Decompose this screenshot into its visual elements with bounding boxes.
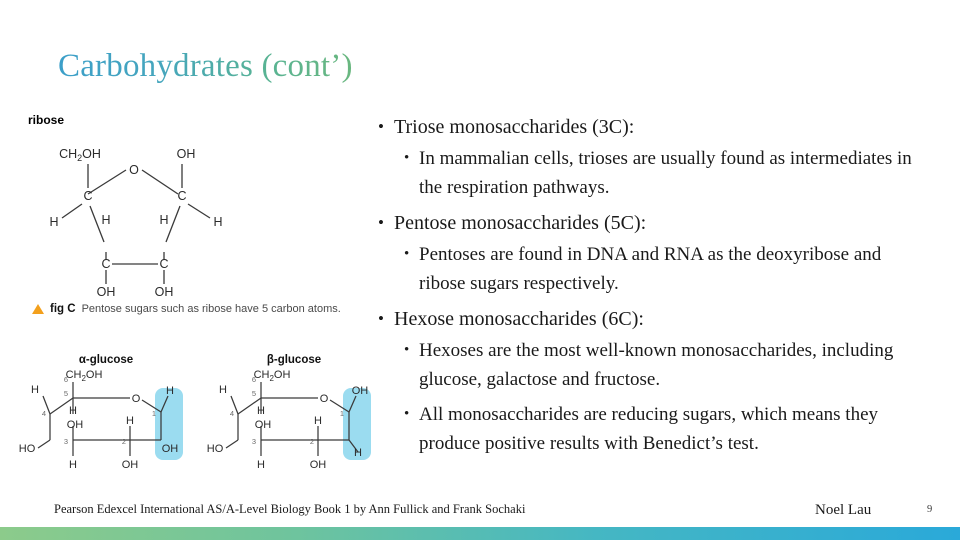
- alpha-label-h-inner: H: [126, 415, 134, 427]
- figure-caption-text: Pentose sugars such as ribose have 5 car…: [82, 303, 341, 315]
- bullet-group-triose: • Triose monosaccharides (3C): • In mamm…: [378, 112, 926, 202]
- alpha-label-oh-c4: OH: [67, 419, 84, 431]
- alpha-label-oh-c2: OH: [122, 459, 139, 471]
- bullet-level1-triose: • Triose monosaccharides (3C):: [378, 112, 926, 142]
- figure-caption-tag: fig C: [50, 303, 76, 315]
- bullet-level2-pentose-1: • Pentoses are found in DNA and RNA as t…: [404, 240, 926, 298]
- bullet-dot-icon: •: [404, 400, 419, 458]
- ribose-label-c-bottomleft: C: [101, 257, 110, 271]
- footer-presenter-name: Noel Lau: [815, 502, 871, 519]
- alpha-num-4: 4: [42, 409, 46, 418]
- alpha-label-h-c5: H: [69, 405, 77, 417]
- alpha-label-h-topleft: H: [31, 384, 39, 396]
- ribose-atom-labels: CH2OH O OH C C H H H H C C OH OH: [49, 147, 222, 299]
- triangle-marker-icon: [32, 304, 44, 314]
- alpha-num-1: 1: [152, 409, 156, 418]
- beta-num-6: 6: [252, 375, 256, 384]
- slide-number: 9: [927, 504, 932, 515]
- bullet-group-pentose: • Pentose monosaccharides (5C): • Pentos…: [378, 208, 926, 298]
- bullet-dot-icon: •: [404, 240, 419, 298]
- bullet-level1-pentose: • Pentose monosaccharides (5C):: [378, 208, 926, 238]
- bullet-level2-hexose-2: • All monosaccharides are reducing sugar…: [404, 400, 926, 458]
- beta-num-5: 5: [252, 389, 256, 398]
- ribose-label-c-bottomright: C: [159, 257, 168, 271]
- figure-alpha-glucose: α-glucose: [19, 354, 183, 471]
- beta-label-highlight-top: OH: [352, 385, 369, 397]
- footer-source-citation: Pearson Edexcel International AS/A-Level…: [54, 502, 525, 517]
- beta-num-2: 2: [310, 437, 314, 446]
- ribose-label-h-innerright: H: [159, 213, 168, 227]
- alpha-label-highlight-top: H: [166, 385, 174, 397]
- ribose-label-h-farright: H: [213, 215, 222, 229]
- bullet-dot-icon: •: [378, 304, 394, 334]
- ribose-label-oh-bottomleft: OH: [97, 285, 116, 299]
- beta-label-o: O: [320, 393, 329, 405]
- beta-num-3: 3: [252, 437, 256, 446]
- figure-caption-figc: fig C Pentose sugars such as ribose have…: [32, 303, 341, 315]
- ribose-label-h-farleft: H: [49, 215, 58, 229]
- ribose-bond-lines: [62, 164, 210, 284]
- beta-carbon-numbers: 6 5 4 3 2 1: [230, 375, 344, 446]
- figure-beta-glucose: β-glucose: [207, 354, 371, 471]
- bullet-text: Hexose monosaccharides (6C):: [394, 304, 644, 334]
- alpha-atom-labels: CH2OH O H HO H OH H OH H H OH: [19, 369, 179, 471]
- bullet-text: Triose monosaccharides (3C):: [394, 112, 634, 142]
- ribose-label-oh-topright: OH: [177, 147, 196, 161]
- alpha-carbon-numbers: 6 5 4 3 2 1: [42, 375, 156, 446]
- bullet-dot-icon: •: [378, 112, 394, 142]
- beta-bond-lines: [226, 382, 358, 456]
- bullet-dot-icon: •: [404, 144, 419, 202]
- alpha-label-o: O: [132, 393, 141, 405]
- alpha-label-highlight-bottom: OH: [162, 443, 179, 455]
- figure-glucose-pair: α-glucose: [18, 352, 390, 477]
- bullet-dot-icon: •: [378, 208, 394, 238]
- bullet-list: • Triose monosaccharides (3C): • In mamm…: [378, 112, 926, 464]
- beta-label-h-topleft: H: [219, 384, 227, 396]
- beta-label-h-c3: H: [257, 459, 265, 471]
- ribose-label-o: O: [129, 163, 139, 177]
- beta-label-h-c5: H: [257, 405, 265, 417]
- bullet-group-hexose: • Hexose monosaccharides (6C): • Hexoses…: [378, 304, 926, 458]
- beta-num-1: 1: [340, 409, 344, 418]
- alpha-label-ch2oh: CH2OH: [66, 369, 103, 383]
- beta-label-oh-c2: OH: [310, 459, 327, 471]
- beta-label-oh-c4: OH: [255, 419, 272, 431]
- bullet-level2-triose-1: • In mammalian cells, trioses are usuall…: [404, 144, 926, 202]
- alpha-num-6: 6: [64, 375, 68, 384]
- alpha-bond-lines: [38, 382, 168, 456]
- alpha-label-ho: HO: [19, 443, 36, 455]
- page-title: Carbohydrates (cont’): [58, 48, 353, 85]
- figure-ribose: ribose CH2OH O OH: [26, 112, 256, 297]
- bullet-text: In mammalian cells, trioses are usually …: [419, 144, 926, 202]
- alpha-num-2: 2: [122, 437, 126, 446]
- beta-num-4: 4: [230, 409, 234, 418]
- bullet-text: Hexoses are the most well-known monosacc…: [419, 336, 926, 394]
- beta-label-highlight-bottom: H: [354, 447, 362, 459]
- ribose-label-c-right: C: [177, 189, 186, 203]
- slide-canvas: Carbohydrates (cont’) ribose: [0, 0, 960, 540]
- ribose-label-ch2oh: CH2OH: [59, 147, 101, 163]
- bullet-text: Pentoses are found in DNA and RNA as the…: [419, 240, 926, 298]
- alpha-num-3: 3: [64, 437, 68, 446]
- ribose-label-c-left: C: [83, 189, 92, 203]
- alpha-label-h-c3: H: [69, 459, 77, 471]
- beta-label-ch2oh: CH2OH: [254, 369, 291, 383]
- bullet-level2-hexose-1: • Hexoses are the most well-known monosa…: [404, 336, 926, 394]
- beta-label-h-inner: H: [314, 415, 322, 427]
- bullet-text: Pentose monosaccharides (5C):: [394, 208, 646, 238]
- alpha-num-5: 5: [64, 389, 68, 398]
- bullet-level1-hexose: • Hexose monosaccharides (6C):: [378, 304, 926, 334]
- alpha-glucose-title: α-glucose: [79, 354, 133, 366]
- beta-glucose-title: β-glucose: [267, 354, 321, 366]
- bullet-text: All monosaccharides are reducing sugars,…: [419, 400, 926, 458]
- ribose-figure-title: ribose: [28, 113, 64, 127]
- ribose-label-oh-bottomright: OH: [155, 285, 174, 299]
- bottom-accent-bar: [0, 527, 960, 540]
- beta-label-ho: HO: [207, 443, 224, 455]
- ribose-label-h-innerleft: H: [101, 213, 110, 227]
- bullet-dot-icon: •: [404, 336, 419, 394]
